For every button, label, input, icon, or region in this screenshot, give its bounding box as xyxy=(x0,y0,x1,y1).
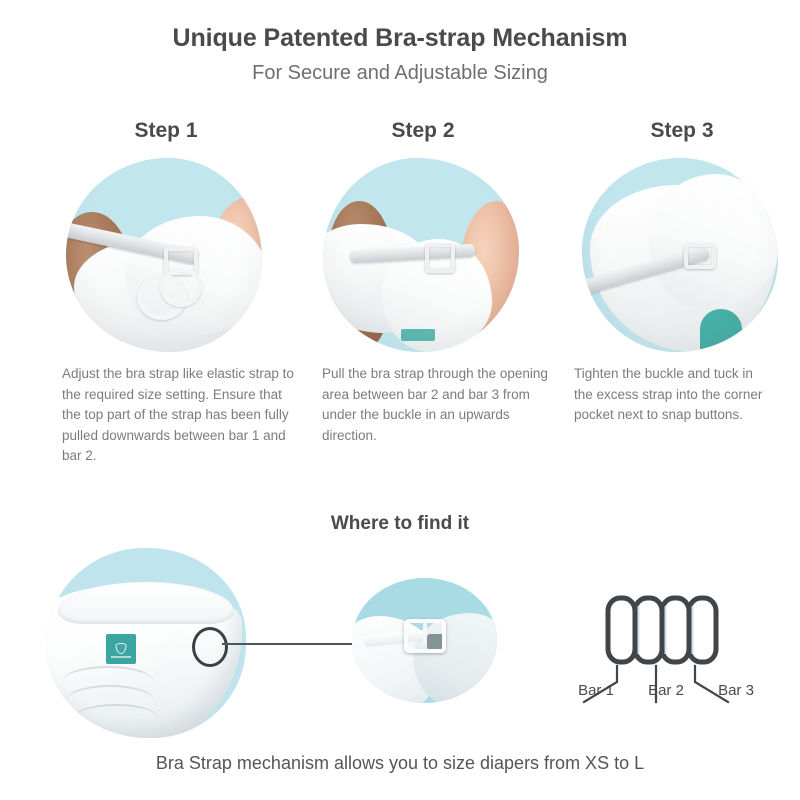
step-3-caption: Tighten the buckle and tuck in the exces… xyxy=(574,364,774,426)
bar-labels: Bar 1 Bar 2 Bar 3 xyxy=(556,682,786,704)
brand-label xyxy=(106,634,136,664)
callout-marker-ring xyxy=(192,627,228,667)
step-2-photo xyxy=(323,158,519,352)
step-1-photo xyxy=(66,158,262,352)
brand-wordmark xyxy=(111,656,130,658)
page-subtitle: For Secure and Adjustable Sizing xyxy=(0,62,800,85)
step-1-heading: Step 1 xyxy=(66,119,266,143)
step-3-heading: Step 3 xyxy=(582,119,782,143)
page-title: Unique Patented Bra-strap Mechanism xyxy=(0,24,800,53)
bar-segment-1 xyxy=(608,598,635,662)
buckle-detail-photo xyxy=(352,578,497,703)
step-3-photo xyxy=(582,158,778,352)
bar-dividers xyxy=(639,606,693,654)
bar-1-label: Bar 1 xyxy=(566,682,626,699)
infographic-page: Unique Patented Bra-strap Mechanism For … xyxy=(0,0,800,800)
bar-2-label: Bar 2 xyxy=(636,682,696,699)
step-2-heading: Step 2 xyxy=(323,119,523,143)
buckle-center-bar xyxy=(423,621,427,645)
step-1-caption: Adjust the bra strap like elastic strap … xyxy=(62,364,294,467)
bar-segments xyxy=(608,598,716,662)
photo-vignette xyxy=(323,158,519,352)
bar-3-label: Bar 3 xyxy=(706,682,766,699)
callout-leader-line xyxy=(222,643,352,645)
photo-vignette xyxy=(66,158,262,352)
step-2-caption: Pull the bra strap through the opening a… xyxy=(322,364,554,446)
where-to-find-it-heading: Where to find it xyxy=(0,513,800,535)
footer-text: Bra Strap mechanism allows you to size d… xyxy=(0,753,800,774)
brand-logo-icon xyxy=(116,643,127,654)
photo-vignette xyxy=(582,158,778,352)
